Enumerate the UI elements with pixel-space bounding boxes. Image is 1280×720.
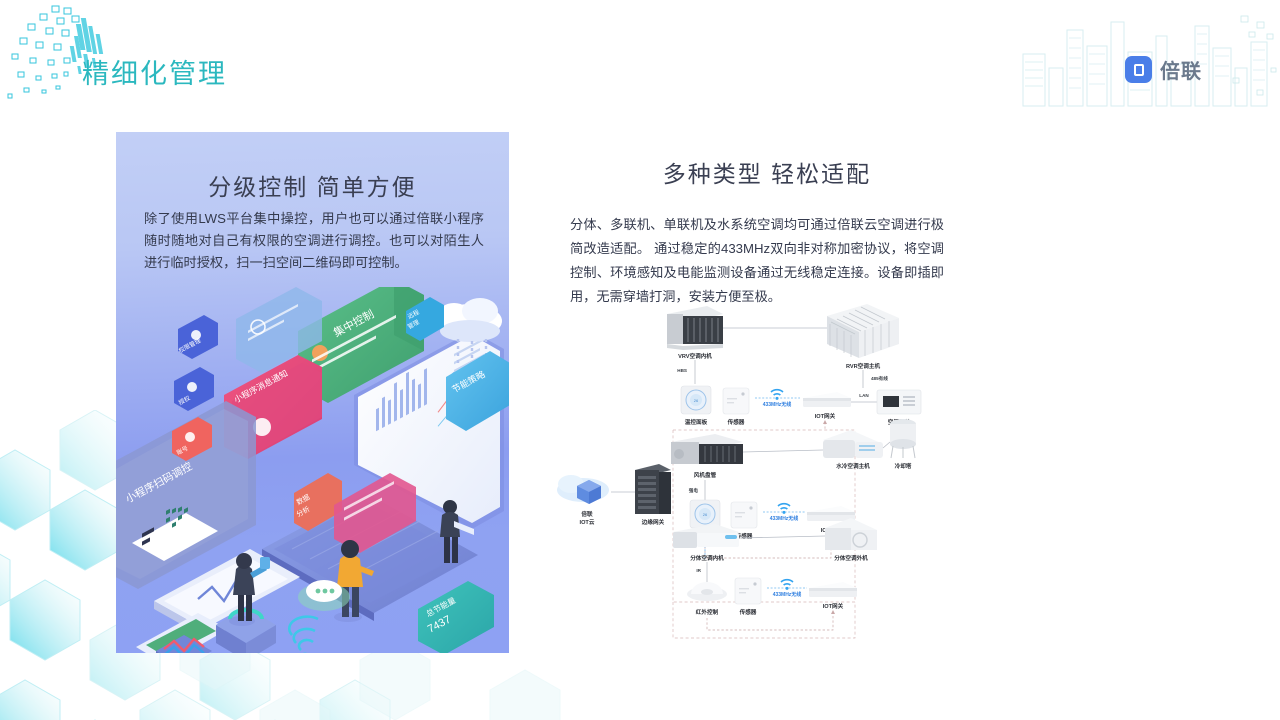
label-485: 485有线 <box>871 375 888 382</box>
architecture-diagram: VRV空调内机 RVR空调主机 HBS 485有线 26 温控面板 <box>555 302 955 652</box>
label-edge-gateway: 边缘网关 <box>641 518 665 526</box>
label-fan-coil-unit: 风机盘管 <box>694 471 717 479</box>
label-iot-cloud-line2: IOT云 <box>580 519 595 526</box>
label-wireless-2: 433MHz无线 <box>770 515 799 522</box>
square-logo-icon <box>1125 56 1152 83</box>
label-iot-gateway-1: IOT网关 <box>815 412 836 420</box>
arrow-up-3 <box>831 610 835 614</box>
label-relay: 强电 <box>689 487 699 494</box>
svg-text:26: 26 <box>694 398 699 403</box>
split-outdoor-unit <box>825 518 877 550</box>
label-sensor-3: 传感器 <box>739 608 757 616</box>
left-feature-card: 分级控制 简单方便 除了使用LWS平台集中操控，用户也可以通过倍联小程序随时随地… <box>116 132 509 653</box>
thermostat-panel-1: 26 <box>681 386 711 414</box>
left-card-body: 除了使用LWS平台集中操控，用户也可以通过倍联小程序随时随地对自己有权限的空调进… <box>144 208 484 274</box>
right-heading: 多种类型 轻松适配 <box>572 155 962 189</box>
ac-gateway <box>877 390 921 414</box>
page-header: 精细化管理 倍联 <box>0 0 1280 120</box>
page-title: 精细化管理 <box>82 52 227 91</box>
label-lan: LAN <box>859 393 869 398</box>
label-iot-gateway-3: IOT网关 <box>823 602 844 610</box>
label-wireless-3: 433MHz无线 <box>773 591 802 598</box>
label-iot-cloud-line1: 倍联 <box>581 510 593 518</box>
label-water-chiller: 水冷空调主机 <box>835 462 870 470</box>
iot-gateway-2 <box>807 506 855 521</box>
label-split-outdoor-unit: 分体空调外机 <box>834 554 868 562</box>
vrv-outdoor-unit <box>827 304 899 358</box>
label-split-indoor-unit: 分体空调内机 <box>690 554 724 562</box>
iot-cloud <box>557 475 609 504</box>
label-thermostat-panel-1: 温控面板 <box>685 418 708 426</box>
wire-fancoil-to-chiller <box>743 450 823 452</box>
wire-chiller-to-tower <box>883 442 890 448</box>
wire-dash-3 <box>707 612 833 630</box>
left-card-heading: 分级控制 简单方便 <box>116 168 509 202</box>
right-body: 分体、多联机、单联机及水系统空调均可通过倍联云空调进行极简改造适配。 通过稳定的… <box>570 213 944 309</box>
label-sensor-1: 传感器 <box>727 418 745 426</box>
fan-coil-unit <box>671 434 743 464</box>
thermostat-panel-2: 26 <box>690 500 720 528</box>
brand-logo: 倍联 <box>1125 55 1202 84</box>
label-ir-controller: 红外控制 <box>696 608 719 616</box>
cooling-tower <box>890 419 916 458</box>
right-feature-section: 多种类型 轻松适配 分体、多联机、单联机及水系统空调均可通过倍联云空调进行极简改… <box>562 155 962 309</box>
iot-gateway-3 <box>809 582 857 597</box>
edge-gateway <box>635 464 671 514</box>
arrow-up-1 <box>823 420 827 424</box>
sensor-2 <box>731 502 757 528</box>
split-indoor-unit <box>673 524 739 548</box>
label-vrv-indoor-unit: VRV空调内机 <box>678 352 712 360</box>
iot-gateway-1 <box>803 392 851 407</box>
label-ir: IR <box>696 568 701 573</box>
sensor-1 <box>723 388 749 414</box>
sensor-3 <box>735 578 761 604</box>
label-cooling-tower: 冷却塔 <box>895 462 912 470</box>
label-vrv-outdoor-unit: RVR空调主机 <box>846 362 880 370</box>
vrv-indoor-unit <box>667 306 723 350</box>
svg-text:26: 26 <box>703 512 708 517</box>
brand-name: 倍联 <box>1160 55 1202 84</box>
label-wireless-1: 433MHz无线 <box>763 401 792 408</box>
label-hbs: HBS <box>677 368 687 373</box>
isometric-illustration: 集中控制 小程序消息通知 小程序扫码调控 <box>116 287 509 653</box>
ir-controller <box>687 582 727 601</box>
water-chiller <box>823 430 883 458</box>
